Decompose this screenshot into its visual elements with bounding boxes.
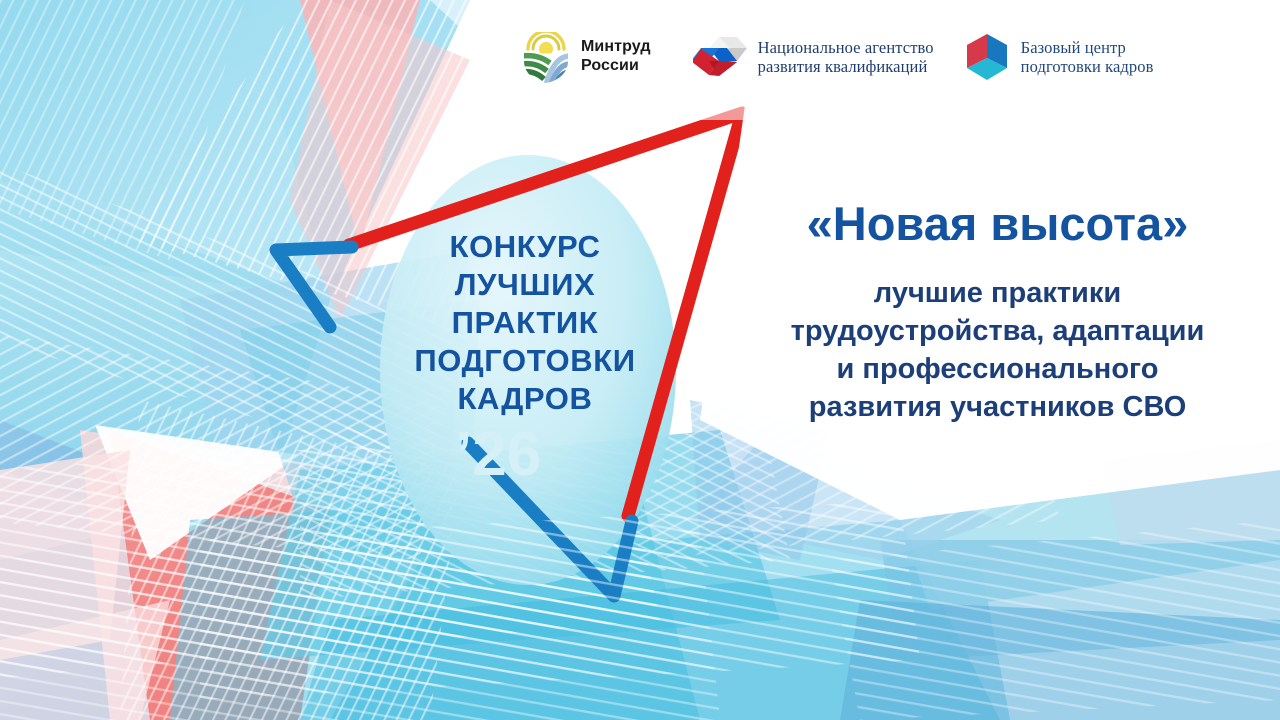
subtitle-line-4: развития участников СВО [745,388,1250,426]
logo-bar: Минтруд России Национальное агентство [520,22,1260,92]
bcpk-label-line2: подготовки кадров [1021,57,1154,76]
nark-label-line2: развития квалификаций [758,57,934,76]
subtitle-line-1: лучшие практики [745,274,1250,312]
page-title: «Новая высота» [745,196,1250,252]
bcpk-label: Базовый центр подготовки кадров [1021,38,1154,77]
emblem-line-5: КАДРОВ [395,380,655,418]
logo-bcpk: Базовый центр подготовки кадров [962,30,1154,84]
emblem-line-1: КОНКУРС [395,228,655,266]
nark-label-line1: Национальное агентство [758,38,934,57]
mintrud-label-line2: России [581,57,651,76]
emblem-line-3: ПРАКТИК [395,304,655,342]
mintrud-label: Минтруд России [581,38,651,76]
subtitle-block: лучшие практики трудоустройства, адаптац… [745,274,1250,426]
poster-canvas: Минтруд России Национальное агентство [0,0,1280,720]
mintrud-label-line1: Минтруд [581,38,651,57]
main-text-block: «Новая высота» лучшие практики трудоустр… [745,196,1250,426]
mintrud-shield-icon [520,29,572,85]
emblem-year: ’26 [455,424,655,486]
emblem-line-4: ПОДГОТОВКИ [395,342,655,380]
emblem-text-block: КОНКУРС ЛУЧШИХ ПРАКТИК ПОДГОТОВКИ КАДРОВ… [395,228,655,486]
logo-mintrud: Минтруд России [520,29,651,85]
nark-label: Национальное агентство развития квалифик… [758,38,934,77]
bcpk-cube-icon [962,30,1012,84]
logo-nark: Национальное агентство развития квалифик… [693,31,934,83]
subtitle-line-3: и профессионального [745,350,1250,388]
emblem-line-2: ЛУЧШИХ [395,266,655,304]
bcpk-label-line1: Базовый центр [1021,38,1154,57]
nark-flag-icon [693,31,749,83]
subtitle-line-2: трудоустройства, адаптации [745,312,1250,350]
